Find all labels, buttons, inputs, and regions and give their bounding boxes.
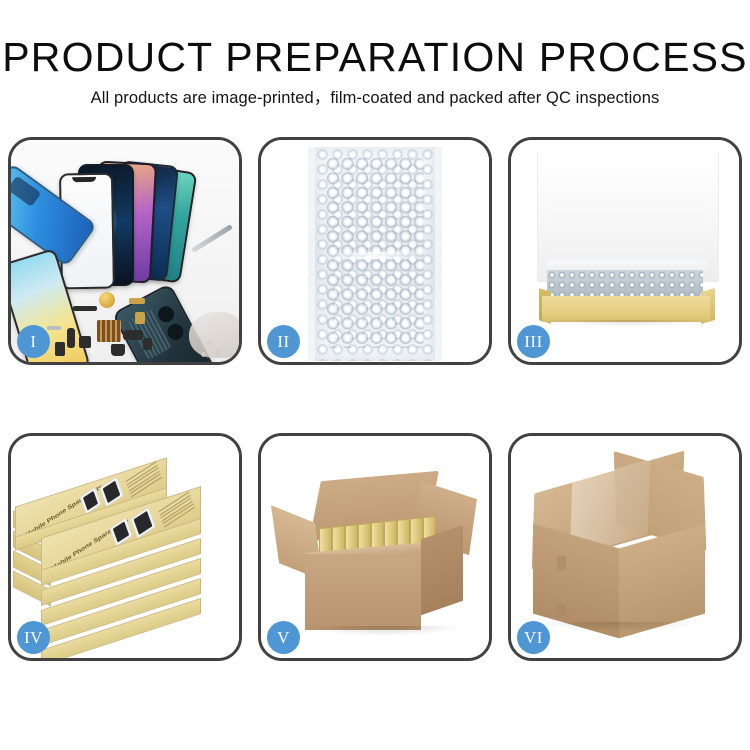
part-camera-module — [79, 336, 91, 348]
step-badge-4: IV — [17, 621, 50, 654]
part-vibrator — [123, 330, 143, 340]
stacked-boxes-illustration: Mobile Phone Spare Parts Mobile Phone Sp… — [11, 436, 239, 658]
inner-box-bubble-wrapped-item — [547, 270, 703, 298]
carton-shadow — [309, 626, 461, 636]
part-button-flex — [67, 328, 75, 348]
part-bracket — [47, 326, 61, 330]
carton-side-right — [421, 525, 463, 615]
bubble-wrap-illustration — [261, 140, 489, 362]
step-panel-6[interactable]: VI — [508, 433, 742, 661]
carton-seam-upper — [557, 556, 566, 570]
step-image-6 — [511, 436, 739, 658]
step-badge-6: VI — [517, 621, 550, 654]
inner-box-front-wall — [542, 296, 710, 322]
carton-seam-lower — [557, 604, 566, 618]
step-image-2 — [261, 140, 489, 362]
part-gold-flex-a — [129, 298, 145, 304]
part-speaker — [111, 344, 125, 356]
step-image-5 — [261, 436, 489, 658]
step-panel-3[interactable]: III — [508, 137, 742, 365]
inner-box-lid-panel — [551, 192, 703, 266]
page-subtitle: All products are image-printed，film-coat… — [0, 85, 750, 111]
sealed-carton-shadow — [537, 622, 701, 631]
step-badge-3: III — [517, 325, 550, 358]
step-panel-2[interactable]: II — [258, 137, 492, 365]
part-gold-flex-b — [135, 312, 145, 324]
step-panel-5[interactable]: V — [258, 433, 492, 661]
step-panel-4[interactable]: Mobile Phone Spare Parts Mobile Phone Sp… — [8, 433, 242, 661]
page-header: PRODUCT PREPARATION PROCESS All products… — [0, 0, 750, 111]
step-image-3 — [511, 140, 739, 362]
part-sim-tray — [55, 342, 65, 356]
part-speaker-coil — [99, 292, 115, 308]
carton-front-face — [305, 554, 421, 630]
step-image-1 — [11, 140, 239, 362]
part-chip-grid — [97, 320, 121, 342]
tweezers-tool — [191, 224, 233, 253]
phones-and-spare-parts-illustration — [11, 140, 239, 362]
step-image-4: Mobile Phone Spare Parts Mobile Phone Sp… — [11, 436, 239, 658]
step-badge-5: V — [267, 621, 300, 654]
inner-box-shadow — [545, 320, 711, 327]
open-carton-illustration — [261, 436, 489, 658]
open-inner-box-illustration — [511, 140, 739, 362]
step-badge-2: II — [267, 325, 300, 358]
page-title: PRODUCT PREPARATION PROCESS — [0, 34, 750, 80]
technician-hand — [189, 312, 239, 358]
sealed-carton-illustration — [511, 436, 739, 658]
part-flex-strip — [73, 306, 97, 311]
part-battery-connector — [143, 338, 152, 350]
process-step-grid: I II III — [0, 137, 750, 661]
step-panel-1[interactable]: I — [8, 137, 242, 365]
step-badge-1: I — [17, 325, 50, 358]
